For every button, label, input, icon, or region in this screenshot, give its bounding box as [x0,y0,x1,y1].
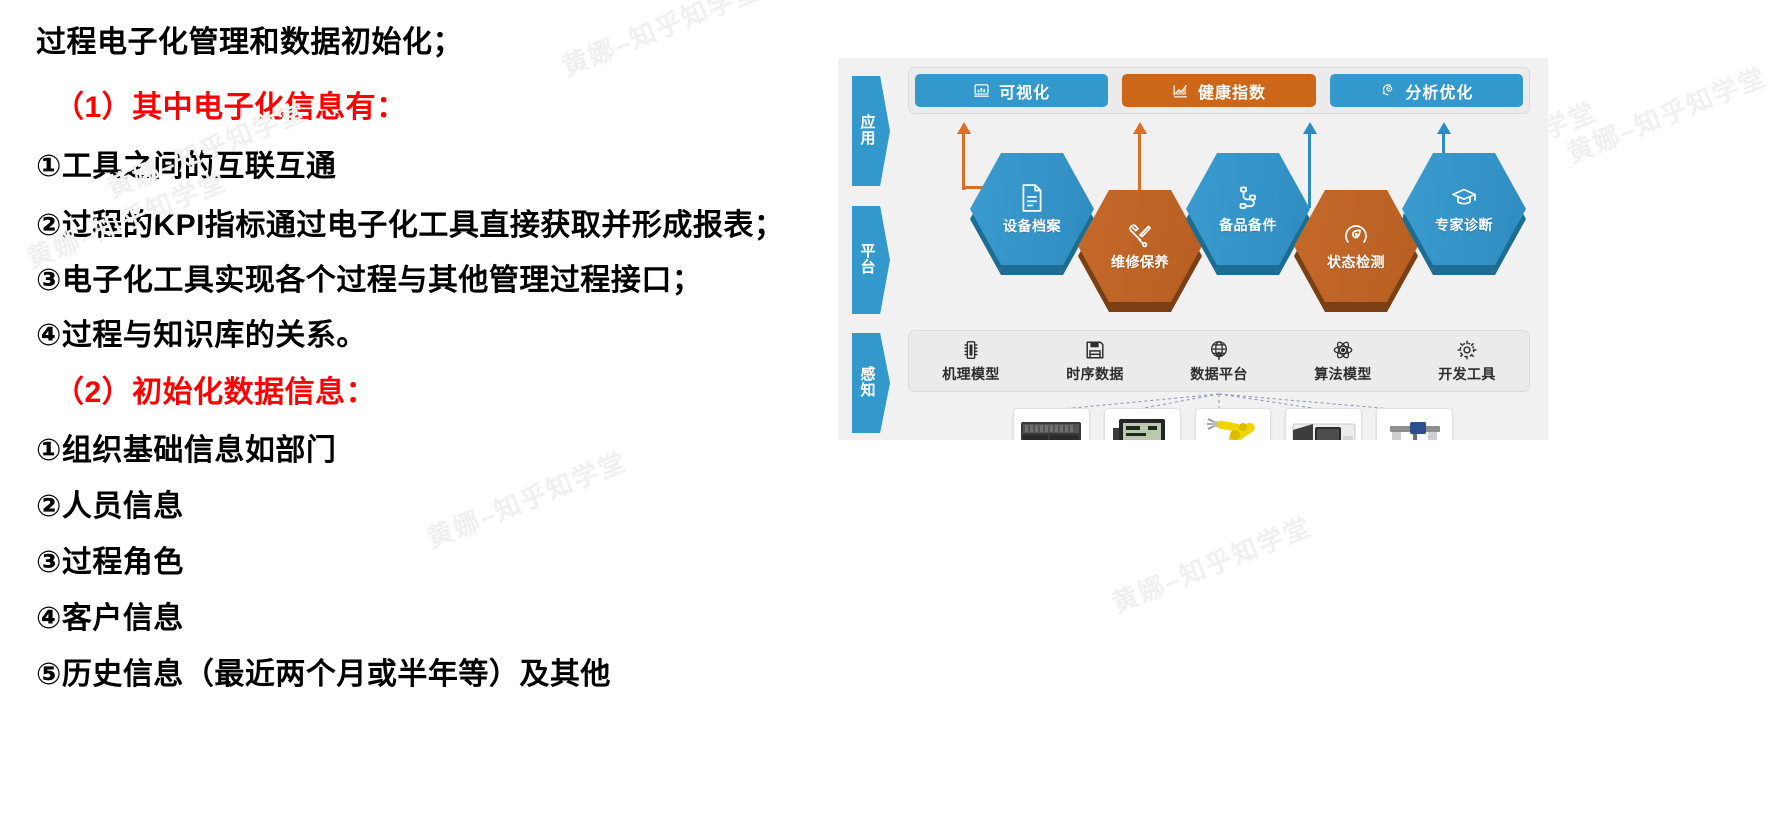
hexagon-label: 维修保养 [1111,252,1169,272]
platform-item-label: 数据平台 [1190,364,1248,384]
section-2-item-4: ④客户信息 [36,604,184,634]
section-2-item-3: ③过程角色 [36,548,184,578]
floppy-disk-icon [1084,339,1106,361]
section-1-item-1: ①工具之间的互联互通 [36,152,336,182]
watermark: 黄娜–知乎知学堂 [1561,57,1772,171]
hexagon-label: 备品备件 [1219,215,1277,235]
section-1-item-2: ②过程的KPI指标通过电子化工具直接获取并形成报表； [36,211,784,241]
platform-item-development-tools[interactable]: 开发工具 [1412,339,1522,384]
platform-item-label: 开发工具 [1438,364,1496,384]
globe-upload-icon [1208,339,1230,361]
hexagon-maintenance[interactable]: 维修保养 [1078,190,1202,314]
spare-part-icon [1234,184,1262,212]
hexagon-label: 专家诊断 [1435,215,1493,235]
platform-item-label: 机理模型 [942,364,1000,384]
dashboard-chart-icon [973,82,990,99]
application-button-bar: 可视化 健康指数 [908,67,1530,114]
layer-label-line2: 用 [860,131,875,147]
architecture-diagram: 应 用 平 台 感 知 可视化 [838,58,1548,440]
brain-gear-icon [1379,82,1396,99]
arrow-head-3 [1303,122,1317,134]
gauge-icon [1342,221,1370,249]
hexagon-label: 设备档案 [1003,216,1061,236]
hexagon-expert-diagnosis[interactable]: 专家诊断 [1402,153,1526,277]
sidebar-item-application-layer[interactable]: 应 用 [852,76,890,186]
app-button-label: 分析优化 [1405,79,1473,103]
sidebar-item-platform-layer[interactable]: 平 台 [852,206,890,314]
layer-label-line2: 台 [860,260,875,276]
device-card-row [1013,408,1453,440]
hexagon-equipment-archive[interactable]: 设备档案 [970,153,1094,277]
watermark: 黄娜–知乎知学堂 [1106,507,1317,621]
app-button-label: 健康指数 [1198,79,1266,103]
section-2-item-5: ⑤历史信息（最近两个月或半年等）及其他 [36,660,611,690]
sidebar-item-perception-layer[interactable]: 感 知 [852,333,890,433]
chip-icon [960,339,982,361]
app-button-visualization[interactable]: 可视化 [915,74,1108,107]
slide-heading: 过程电子化管理和数据初始化； [36,28,463,58]
app-button-health-index[interactable]: 健康指数 [1122,74,1315,107]
cnc-machine-photo[interactable] [1285,408,1362,440]
platform-item-label: 时序数据 [1066,364,1124,384]
section-1-item-4: ④过程与知识库的关系。 [36,321,367,351]
gear-icon [1456,339,1478,361]
measuring-machine-photo[interactable] [1376,408,1453,440]
platform-item-label: 算法模型 [1314,364,1372,384]
layer-label-line1: 应 [860,115,875,131]
line-chart-icon [1172,82,1189,99]
arrow-head-1 [957,122,971,134]
layer-label-line1: 平 [860,244,875,260]
instrument-meter-photo[interactable] [1104,408,1181,440]
section-2-item-2: ②人员信息 [36,492,184,522]
section-2-title: （2）初始化数据信息： [36,378,376,408]
platform-item-algorithm-model[interactable]: 算法模型 [1288,339,1398,384]
document-icon [1019,183,1045,213]
platform-item-timeseries-data[interactable]: 时序数据 [1040,339,1150,384]
app-button-label: 可视化 [999,79,1050,103]
hexagon-condition-monitoring[interactable]: 状态检测 [1294,190,1418,314]
app-button-analysis-optimization[interactable]: 分析优化 [1330,74,1523,107]
arrow-head-2 [1133,122,1147,134]
slide-text-column: 过程电子化管理和数据初始化； （1）其中电子化信息有： ①工具之间的互联互通 ②… [0,0,840,823]
section-2-item-1: ①组织基础信息如部门 [36,436,336,466]
arrow-head-4 [1437,122,1451,134]
section-1-title: （1）其中电子化信息有： [36,93,407,123]
graduate-icon [1449,184,1479,212]
platform-capability-bar: 机理模型 时序数据 [908,330,1530,392]
atom-icon [1332,339,1354,361]
section-1-item-3: ③电子化工具实现各个过程与其他管理过程接口； [36,266,702,296]
hexagon-label: 状态检测 [1327,252,1385,272]
layer-label-line2: 知 [860,383,875,399]
plc-controller-photo[interactable] [1013,408,1090,440]
tools-icon [1126,221,1154,249]
robot-arm-photo[interactable] [1195,408,1272,440]
platform-item-mechanism-model[interactable]: 机理模型 [916,339,1026,384]
arrow-shaft-1b [962,133,965,188]
platform-item-data-platform[interactable]: 数据平台 [1164,339,1274,384]
layer-label-line1: 感 [860,367,875,383]
hexagon-spare-parts[interactable]: 备品备件 [1186,153,1310,277]
